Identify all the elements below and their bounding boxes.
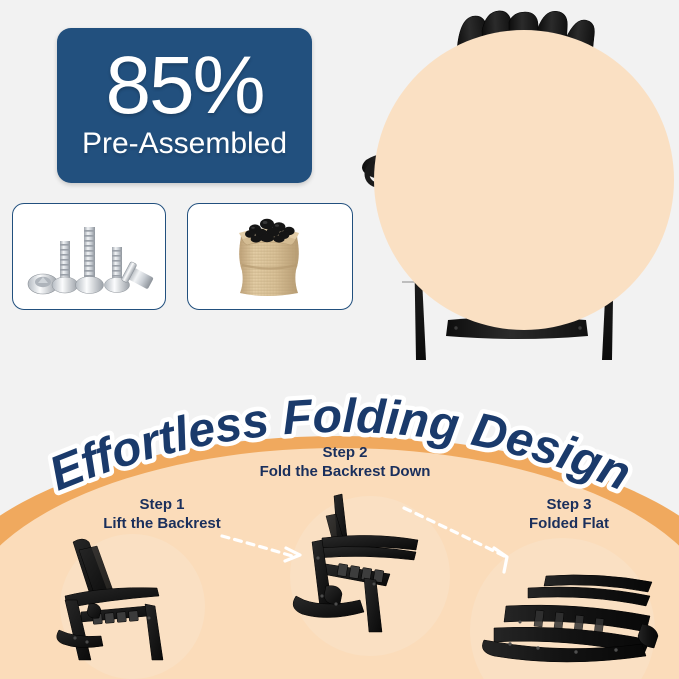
folding-design-section: Step 1 Lift the Backrest Step 2 Fold the… [0,436,679,679]
step-1-number: Step 1 [62,496,262,515]
stainless-steel-screws-icon [24,215,154,299]
chair-backrest-lifted-icon [45,534,215,664]
pre-assembled-badge: 85% Pre-Assembled [57,28,312,183]
step-1-description: Lift the Backrest [103,515,221,532]
exploded-view-backdrop [374,30,674,330]
step-label-2: Step 2 Fold the Backrest Down [230,444,460,482]
step-label-3: Step 3 Folded Flat [474,496,664,534]
step-3-number: Step 3 [474,496,664,515]
exploded-chair-view [352,2,679,374]
step-label-1: Step 1 Lift the Backrest [62,496,262,534]
step-2-number: Step 2 [230,444,460,463]
feature-card-group: Sturdy 304 Stainless Steel [12,203,360,353]
chair-backrest-folding-icon [282,492,432,642]
badge-percent: 85% [105,48,263,123]
burlap-sack-of-resin-pellets-icon [215,211,325,303]
infographic-canvas: 85% Pre-Assembled [0,0,679,679]
step-3-description: Folded Flat [529,515,609,532]
step-2-description: Fold the Backrest Down [260,463,431,480]
feature-card-screws: Sturdy 304 Stainless Steel [12,203,166,310]
badge-subtitle: Pre-Assembled [82,129,287,159]
feature-card-material: Increase 10% Material Costing [187,203,353,310]
chair-folded-flat-icon [476,566,666,676]
